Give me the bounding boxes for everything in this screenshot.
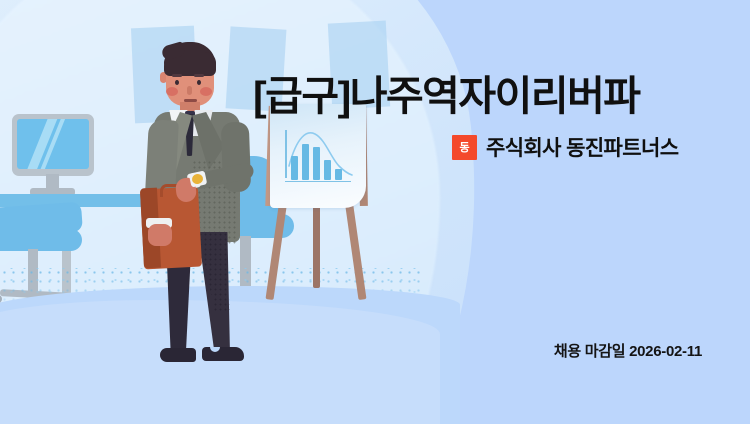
chart-bar	[302, 144, 309, 180]
easel-leg	[344, 192, 367, 300]
company-badge: 동	[452, 135, 477, 160]
eyebrow	[172, 74, 182, 77]
chart-bar	[313, 147, 320, 180]
chair-seat	[0, 229, 82, 251]
eyebrow	[194, 74, 204, 77]
cheek-blush	[166, 87, 178, 96]
nose	[187, 86, 192, 95]
bar-chart-icon	[285, 130, 353, 182]
company-row: 동 주식회사 동진파트너스	[452, 132, 678, 162]
monitor-screen	[17, 119, 89, 169]
left-hand	[148, 224, 172, 246]
page-title: [급구]나주역자이리버파	[253, 76, 640, 117]
businessman-illustration	[140, 42, 270, 372]
chart-bar	[324, 160, 331, 180]
chart-x-axis	[285, 181, 351, 183]
company-name: 주식회사 동진파트너스	[486, 132, 678, 162]
flipchart-easel-icon	[255, 108, 385, 298]
job-ad-banner: [급구]나주역자이리버파 동 주식회사 동진파트너스 채용 마감일 2026-0…	[0, 0, 750, 424]
shoe	[160, 348, 196, 362]
deadline-text: 채용 마감일 2026-02-11	[554, 340, 702, 361]
eye	[197, 80, 201, 85]
chart-bar	[291, 156, 298, 180]
trouser-texture	[198, 232, 230, 312]
cheek-blush	[200, 87, 212, 96]
eye	[175, 80, 179, 85]
chart-bar	[335, 169, 342, 180]
shoe	[202, 347, 244, 361]
